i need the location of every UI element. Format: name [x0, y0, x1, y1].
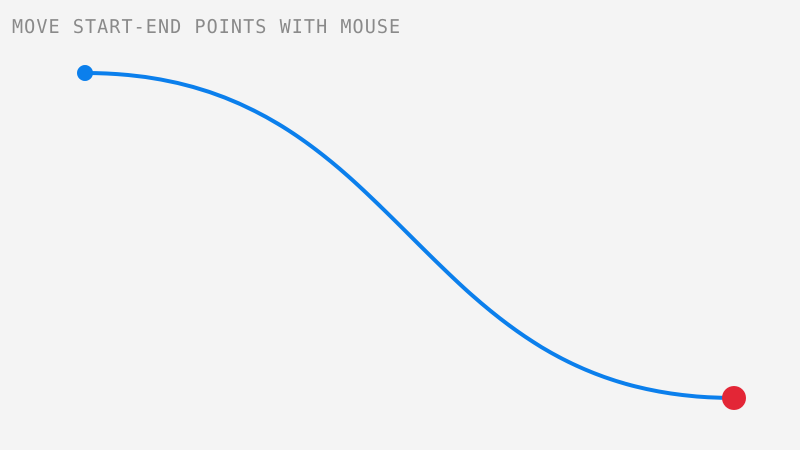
start-point-handle[interactable]	[77, 65, 93, 81]
end-point-handle[interactable]	[722, 386, 746, 410]
page-title: MOVE START-END POINTS WITH MOUSE	[12, 16, 401, 38]
app-root: MOVE START-END POINTS WITH MOUSE	[0, 0, 800, 450]
bezier-scene-svg[interactable]	[0, 0, 800, 450]
bezier-canvas-stage[interactable]: MOVE START-END POINTS WITH MOUSE	[0, 0, 800, 450]
